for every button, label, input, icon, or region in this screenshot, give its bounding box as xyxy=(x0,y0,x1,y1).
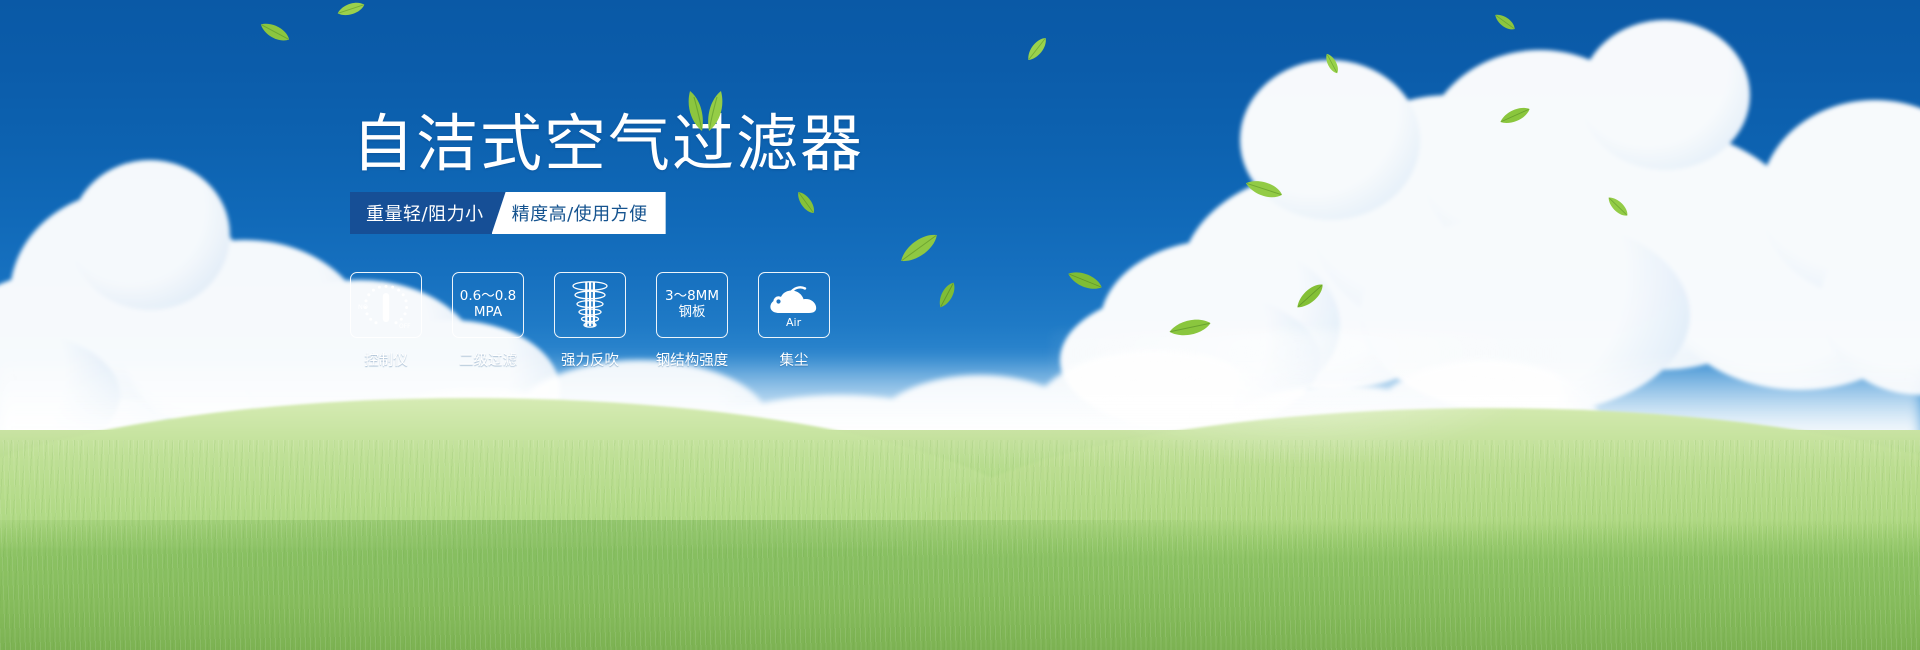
feature-box: NO OFF xyxy=(350,272,422,338)
feature-label: 强力反吹 xyxy=(561,349,619,370)
banner-title: 自洁式空气过滤器 xyxy=(352,113,864,175)
pressure-unit: MPA xyxy=(460,305,516,321)
feature-item-steel-strength: 3～8MM 钢板 钢结构强度 xyxy=(656,272,728,370)
feature-icon-row: NO OFF 控制仪 0.6～0.8 MPA 二级过滤 xyxy=(350,272,830,370)
feature-box xyxy=(554,272,626,338)
feature-item-dust-collection: Air 集尘 xyxy=(758,272,830,370)
banner-content: 自洁式空气过滤器 重量轻/阻力小 精度高/使用方便 xyxy=(0,0,1920,650)
badge-weight-resistance: 重量轻/阻力小 xyxy=(350,192,506,234)
pressure-text-icon: 0.6～0.8 MPA xyxy=(460,289,516,321)
badge-precision-convenience: 精度高/使用方便 xyxy=(492,192,666,234)
feature-badges: 重量轻/阻力小 精度高/使用方便 xyxy=(350,192,666,234)
feature-label: 钢结构强度 xyxy=(656,349,729,370)
feature-item-controller: NO OFF 控制仪 xyxy=(350,272,422,370)
feature-box: Air xyxy=(758,272,830,338)
feature-item-back-blow: 强力反吹 xyxy=(554,272,626,370)
steel-plate-text-icon: 3～8MM 钢板 xyxy=(665,289,719,321)
feature-label: 集尘 xyxy=(780,349,809,370)
feature-label: 二级过滤 xyxy=(459,349,517,370)
svg-text:NO: NO xyxy=(358,303,368,311)
dial-gauge-icon: NO OFF xyxy=(355,278,417,332)
filter-coil-icon xyxy=(562,279,618,331)
svg-text:OFF: OFF xyxy=(399,323,411,330)
feature-box: 0.6～0.8 MPA xyxy=(452,272,524,338)
air-label: Air xyxy=(786,316,802,329)
feature-label: 控制仪 xyxy=(364,349,408,370)
product-banner: 自洁式空气过滤器 重量轻/阻力小 精度高/使用方便 xyxy=(0,0,1920,650)
steel-material: 钢板 xyxy=(665,305,719,321)
air-cloud-icon: Air xyxy=(763,279,825,331)
feature-box: 3～8MM 钢板 xyxy=(656,272,728,338)
leaf-sprout-icon xyxy=(678,88,732,132)
feature-item-two-stage-filter: 0.6～0.8 MPA 二级过滤 xyxy=(452,272,524,370)
pressure-range: 0.6～0.8 xyxy=(460,289,516,305)
steel-thickness: 3～8MM xyxy=(665,289,719,305)
